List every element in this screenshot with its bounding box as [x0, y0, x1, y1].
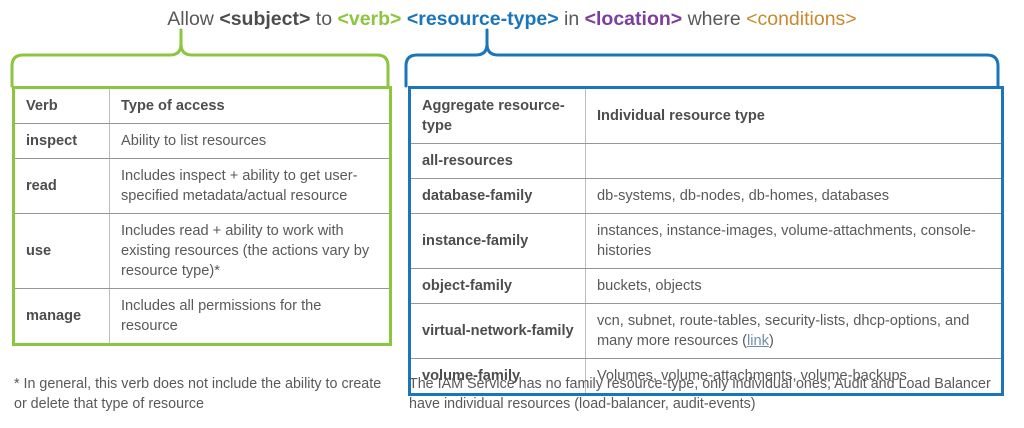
verb-cell-use: use [14, 214, 110, 289]
table-row: virtual-network-family vcn, subnet, rout… [410, 304, 1003, 359]
verb-access-read: Includes inspect + ability to get user-s… [110, 159, 391, 214]
policy-token-conditions: <conditions> [746, 8, 857, 30]
restype-individual-all-resources [586, 144, 1003, 179]
table-row: database-family db-systems, db-nodes, db… [410, 179, 1003, 214]
verb-table-header-verb: Verb [14, 88, 110, 124]
verb-access-inspect: Ability to list resources [110, 124, 391, 159]
restype-cell-instance-family: instance-family [410, 214, 586, 269]
restype-individual-database-family: db-systems, db-nodes, db-homes, database… [586, 179, 1003, 214]
restype-vn-text-after: ) [769, 333, 774, 349]
policy-token-verb: <verb> [337, 8, 401, 30]
table-row: use Includes read + ability to work with… [14, 214, 391, 289]
resource-type-table: Aggregate resource-type Individual resou… [408, 86, 1004, 396]
resource-type-brace [404, 28, 1004, 88]
table-row: instance-family instances, instance-imag… [410, 214, 1003, 269]
verb-table-header-access: Type of access [110, 88, 391, 124]
restype-table-header-aggregate: Aggregate resource-type [410, 88, 586, 144]
restype-cell-all-resources: all-resources [410, 144, 586, 179]
table-row: object-family buckets, objects [410, 269, 1003, 304]
verb-footnote: * In general, this verb does not include… [14, 374, 389, 414]
restype-vn-text-before: vcn, subnet, route-tables, security-list… [597, 313, 969, 349]
verb-cell-inspect: inspect [14, 124, 110, 159]
restype-cell-virtual-network-family: virtual-network-family [410, 304, 586, 359]
restype-individual-virtual-network-family: vcn, subnet, route-tables, security-list… [586, 304, 1003, 359]
verb-cell-manage: manage [14, 289, 110, 345]
policy-token-location: <location> [585, 8, 683, 30]
policy-token-allow: Allow [167, 8, 219, 30]
policy-token-in: in [559, 8, 585, 30]
restype-cell-object-family: object-family [410, 269, 586, 304]
verb-cell-read: read [14, 159, 110, 214]
policy-token-resource-type: <resource-type> [407, 8, 559, 30]
table-row: all-resources [410, 144, 1003, 179]
restype-individual-instance-family: instances, instance-images, volume-attac… [586, 214, 1003, 269]
restype-individual-object-family: buckets, objects [586, 269, 1003, 304]
verb-brace [10, 28, 394, 88]
table-header-row: Verb Type of access [14, 88, 391, 124]
restype-table-header-individual: Individual resource type [586, 88, 1003, 144]
verb-access-use: Includes read + ability to work with exi… [110, 214, 391, 289]
verb-access-manage: Includes all permissions for the resourc… [110, 289, 391, 345]
table-row: inspect Ability to list resources [14, 124, 391, 159]
verb-table: Verb Type of access inspect Ability to l… [12, 86, 392, 346]
policy-token-where: where [682, 8, 746, 30]
restype-cell-database-family: database-family [410, 179, 586, 214]
resource-type-footnote: The IAM Service has no family resource-t… [409, 374, 1009, 414]
table-row: read Includes inspect + ability to get u… [14, 159, 391, 214]
policy-token-to: to [310, 8, 337, 30]
more-resources-link[interactable]: link [747, 333, 769, 349]
table-header-row: Aggregate resource-type Individual resou… [410, 88, 1003, 144]
table-row: manage Includes all permissions for the … [14, 289, 391, 345]
policy-token-subject: <subject> [219, 8, 310, 30]
